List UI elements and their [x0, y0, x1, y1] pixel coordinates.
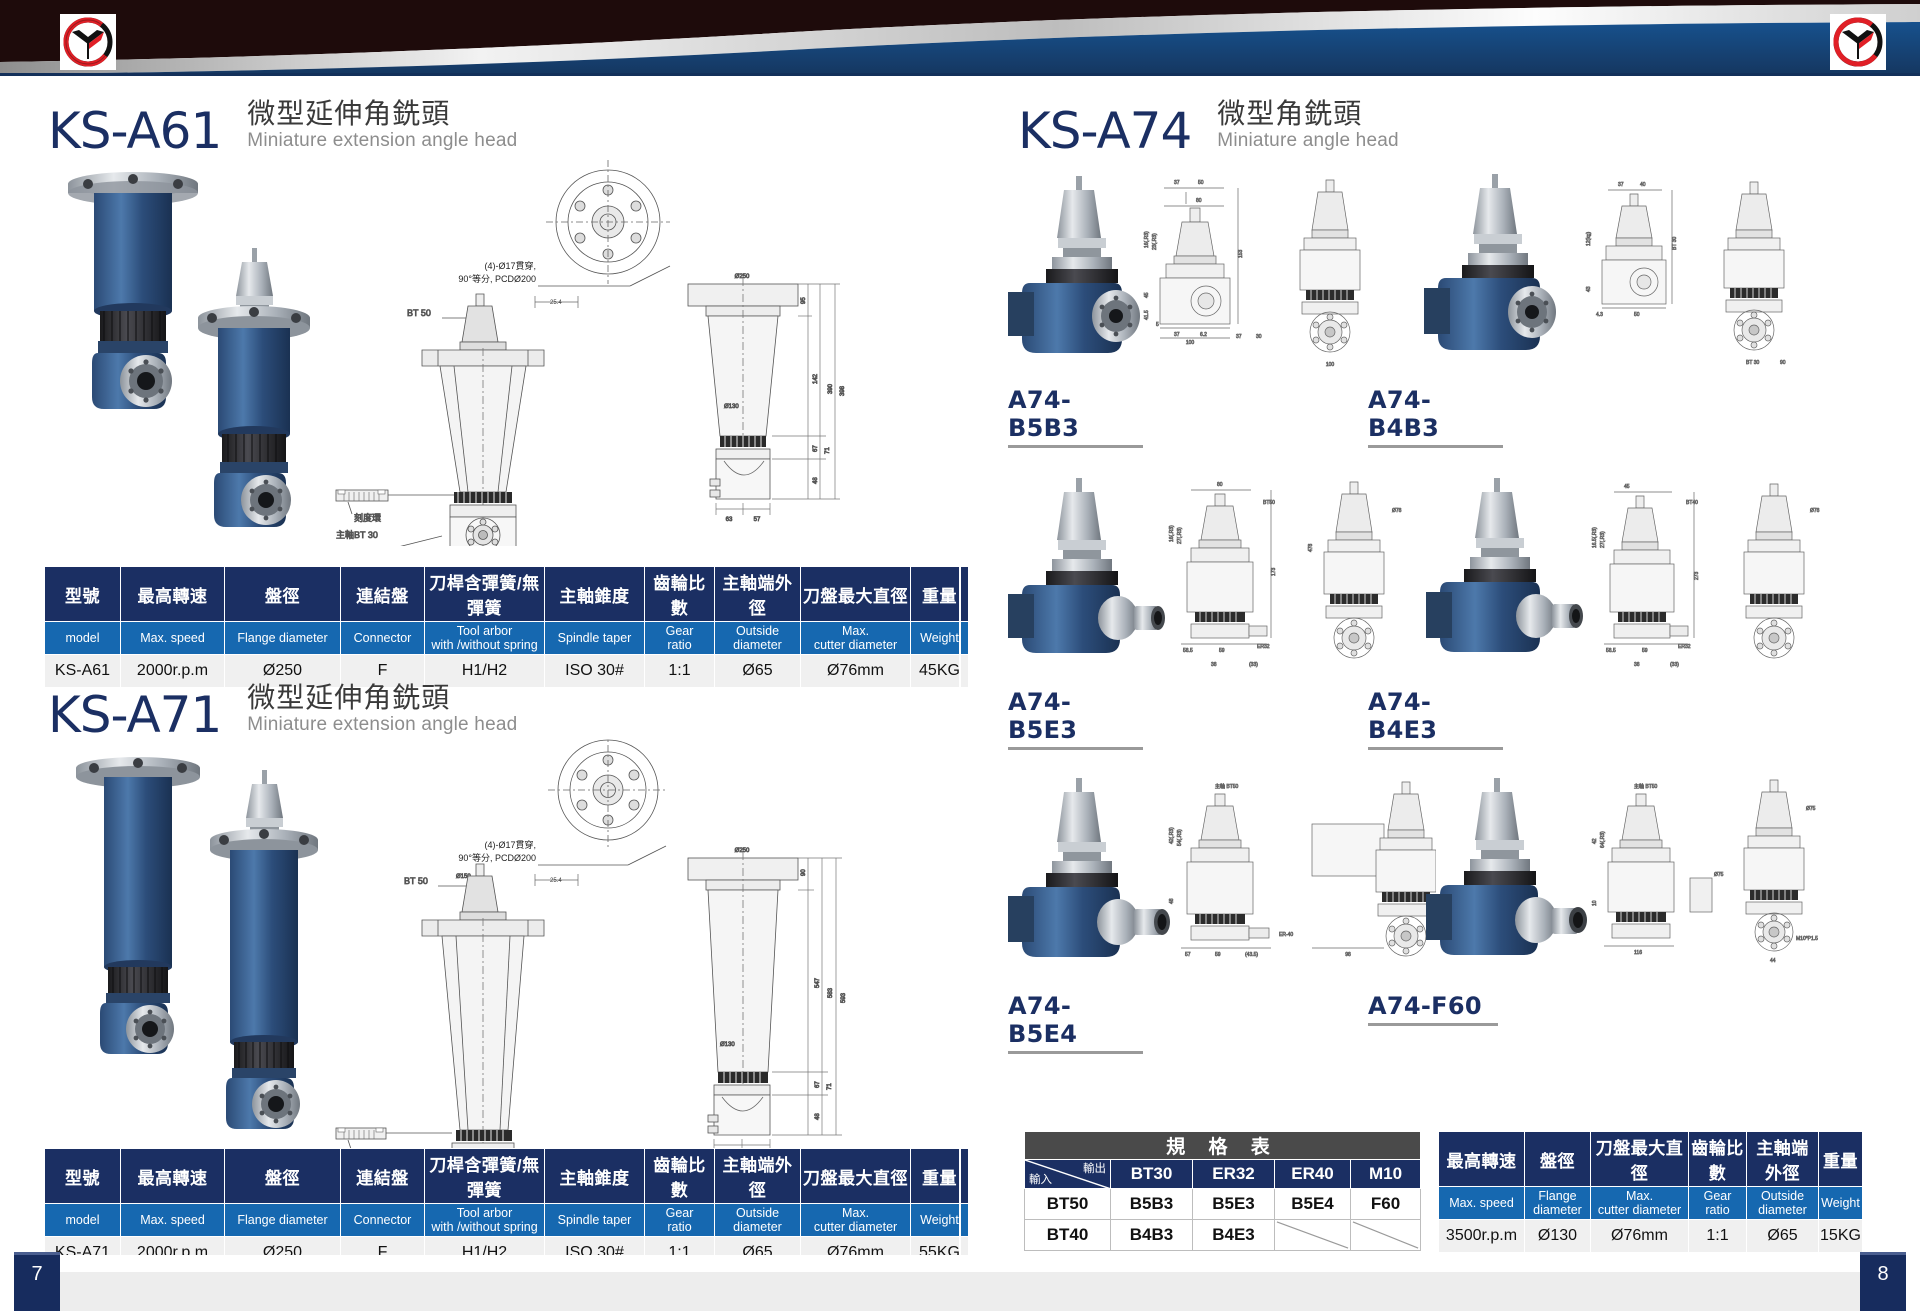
section-header-ks-a61: KS-A61 微型延伸角銑頭 Miniature extension angle…: [48, 98, 517, 155]
svg-text:16(.R3): 16(.R3): [1144, 231, 1150, 248]
th-cn-2: 盤徑: [225, 1149, 341, 1204]
th-cn-3: 連結盤: [341, 567, 425, 622]
combo-cell-1-0: B4B3: [1111, 1220, 1193, 1251]
note-holes-line2: 90°等分, PCDØ200: [458, 273, 536, 284]
td-0: 3500r.p.m: [1439, 1220, 1525, 1253]
spec-header-row-en: Max. speed Flange diameter Max. cutter d…: [1439, 1187, 1863, 1220]
variant-label-a74-b4e3: A74-B4E3: [1368, 688, 1498, 750]
svg-text:(33): (33): [1249, 662, 1258, 668]
variant-label-a74-b5e4: A74-B5E4: [1008, 992, 1138, 1054]
svg-text:16.5(.R3): 16.5(.R3): [1592, 527, 1598, 548]
th-en-4: Tool arbor with /without spring: [425, 1204, 545, 1237]
combo-col-1: ER32: [1193, 1160, 1275, 1189]
svg-text:27(.R3): 27(.R3): [1177, 527, 1183, 544]
spec-value-row: 3500r.p.m Ø130 Ø76mm 1:1 Ø65 15KG: [1439, 1220, 1863, 1253]
svg-text:59: 59: [1219, 648, 1225, 654]
th-cn-7: 主軸端外徑: [715, 567, 801, 622]
svg-text:41.5: 41.5: [1144, 310, 1150, 320]
svg-text:BT 30: BT 30: [1746, 360, 1759, 366]
td-2: Ø76mm: [1591, 1220, 1689, 1253]
svg-text:16(.R3): 16(.R3): [1169, 525, 1175, 542]
combo-cell-0-3: F60: [1351, 1189, 1421, 1220]
th-cn-8: 刀盤最大直徑: [801, 567, 911, 622]
svg-text:ER-40: ER-40: [1279, 932, 1293, 938]
th-en-1: Max. speed: [121, 1204, 225, 1237]
page-banner: [0, 0, 1920, 76]
svg-text:44: 44: [1770, 958, 1776, 964]
svg-text:100: 100: [1326, 362, 1335, 368]
combo-row-input-0: BT50: [1025, 1189, 1111, 1220]
model-code-ks-a61: KS-A61: [48, 108, 221, 156]
svg-text:BT40: BT40: [1686, 500, 1698, 506]
svg-text:80: 80: [1196, 198, 1202, 204]
combo-table-title: 規 格 表: [1025, 1132, 1421, 1160]
svg-text:398: 398: [840, 385, 846, 396]
svg-text:58.5: 58.5: [1606, 648, 1616, 654]
svg-text:(43.5): (43.5): [1245, 952, 1258, 958]
svg-text:67: 67: [813, 445, 819, 452]
th-cn-7: 主軸端外徑: [715, 1149, 801, 1204]
variant-label-a74-b4b3: A74-B4B3: [1368, 386, 1498, 448]
svg-text:142: 142: [813, 373, 819, 384]
svg-text:48: 48: [1169, 898, 1175, 904]
combo-cell-0-1: B5E3: [1193, 1189, 1275, 1220]
combo-cell-0-0: B5B3: [1111, 1189, 1193, 1220]
svg-text:583: 583: [828, 987, 834, 998]
svg-text:Ø130: Ø130: [720, 1042, 735, 1048]
th-en-0: model: [45, 1204, 121, 1237]
section-header-ks-a74: KS-A74 微型角銑頭 Miniature angle head: [1018, 98, 1399, 155]
svg-text:98: 98: [1345, 952, 1351, 958]
title-cn-ks-a61: 微型延伸角銑頭: [247, 98, 517, 129]
svg-text:71: 71: [827, 1083, 833, 1090]
th-cn-0: 最高轉速: [1439, 1132, 1525, 1187]
th-en-4: Outside diameter: [1747, 1187, 1819, 1220]
svg-text:58.5: 58.5: [1183, 648, 1193, 654]
svg-text:63: 63: [726, 517, 733, 523]
title-en-ks-a71: Miniature extension angle head: [247, 713, 517, 737]
td-5: ISO 30#: [545, 655, 645, 688]
th-en-4: Tool arbor with /without spring: [425, 622, 545, 655]
variant-art-a74-b4b3: 3740 12(kg) 43 4.3 50 BT 30: [1358, 168, 1838, 383]
svg-text:BT 50: BT 50: [407, 308, 431, 318]
variant-art-a74-f60: 主軸 BT50 42 64(.R3): [1358, 776, 1838, 991]
svg-text:48: 48: [813, 477, 819, 484]
combo-row-bt50: BT50 B5B3 B5E3 B5E4 F60: [1025, 1189, 1421, 1220]
svg-text:BT50: BT50: [1263, 500, 1275, 506]
th-en-6: Gear ratio: [645, 622, 715, 655]
td-6: 1:1: [645, 655, 715, 688]
title-cn-ks-a74: 微型角銑頭: [1217, 98, 1398, 129]
svg-text:153: 153: [1238, 249, 1244, 258]
svg-text:40: 40: [1640, 182, 1646, 188]
product-illustration-ks-a61: (4)-Ø17貫穿, 90°等分, PCDØ200 25.4 BT 50: [30, 156, 930, 546]
th-cn-1: 最高轉速: [121, 1149, 225, 1204]
svg-text:38: 38: [1634, 662, 1640, 668]
th-en-7: Outside diameter: [715, 622, 801, 655]
combo-corner-cell: 輸入 輸出: [1025, 1160, 1111, 1189]
td-4: Ø65: [1747, 1220, 1819, 1253]
variant-label-a74-f60: A74-F60: [1368, 992, 1493, 1026]
svg-text:12(kg): 12(kg): [1586, 231, 1592, 246]
th-cn-0: 型號: [45, 1149, 121, 1204]
td-7: Ø65: [715, 655, 801, 688]
svg-text:593: 593: [841, 992, 847, 1003]
th-cn-5: 重量: [1819, 1132, 1863, 1187]
svg-text:57: 57: [1185, 952, 1191, 958]
drawing-note-holes-a71: (4)-Ø17貫穿, 90°等分, PCDØ200: [458, 839, 666, 865]
svg-text:Ø75: Ø75: [1714, 872, 1724, 878]
combination-table: 規 格 表 輸入 輸出 BT30 ER32 ER40 M10 BT50 B5B3…: [1024, 1131, 1421, 1251]
spec-header-row-cn: 型號 最高轉速 盤徑 連結盤 刀桿含彈簧/無彈簧 主軸錐度 齒輪比數 主軸端外徑…: [45, 1149, 969, 1204]
product-illustration-ks-a71: (4)-Ø17貫穿, 90°等分, PCDØ200 25.4 BT 50 Ø15…: [30, 738, 930, 1203]
th-en-8: Max. cutter diameter: [801, 622, 911, 655]
svg-text:48: 48: [815, 1113, 821, 1120]
svg-text:27(.R3): 27(.R3): [1600, 531, 1606, 548]
footer-strip: [56, 1272, 1864, 1311]
model-code-ks-a71: KS-A71: [48, 692, 221, 740]
page-gutter: [959, 76, 961, 1255]
svg-text:BT 50: BT 50: [404, 876, 428, 886]
note-holes-line1: (4)-Ø17貫穿,: [484, 260, 536, 271]
svg-text:ER32: ER32: [1678, 644, 1691, 650]
td-3: 1:1: [1689, 1220, 1747, 1253]
td-5: 15KG: [1819, 1220, 1863, 1253]
title-en-ks-a61: Miniature extension angle head: [247, 129, 517, 153]
svg-text:37: 37: [1174, 180, 1180, 186]
th-cn-0: 型號: [45, 567, 121, 622]
svg-text:42: 42: [1592, 838, 1598, 844]
model-code-ks-a74: KS-A74: [1018, 108, 1191, 156]
svg-text:10: 10: [1592, 900, 1598, 906]
combo-col-0: BT30: [1111, 1160, 1193, 1189]
svg-text:478: 478: [1308, 543, 1314, 552]
svg-text:23(.R3): 23(.R3): [1152, 233, 1158, 250]
combo-corner-output: 輸出: [1083, 1160, 1106, 1176]
svg-text:主軸 BT50: 主軸 BT50: [1634, 783, 1658, 790]
svg-text:80: 80: [1217, 482, 1223, 488]
svg-text:Ø130: Ø130: [724, 404, 739, 410]
th-en-3: Connector: [341, 1204, 425, 1237]
company-emblem-icon: [1830, 14, 1886, 70]
page-number-left: 7: [14, 1252, 60, 1311]
svg-text:59: 59: [1215, 952, 1221, 958]
svg-text:59: 59: [1642, 648, 1648, 654]
th-cn-4: 刀桿含彈簧/無彈簧: [425, 567, 545, 622]
variant-label-a74-b5b3: A74-B5B3: [1008, 386, 1138, 448]
th-cn-2: 盤徑: [225, 567, 341, 622]
th-cn-8: 刀盤最大直徑: [801, 1149, 911, 1204]
title-en-ks-a74: Miniature angle head: [1217, 129, 1398, 153]
combo-cell-1-2: [1275, 1220, 1351, 1251]
note-spindle-bt30: 主軸BT 30: [336, 529, 378, 540]
variant-art-a74-b4e3: 45 BT40: [1358, 476, 1838, 686]
th-cn-5: 主軸錐度: [545, 567, 645, 622]
spec-table-ks-a61: 型號 最高轉速 盤徑 連結盤 刀桿含彈簧/無彈簧 主軸錐度 齒輪比數 主軸端外徑…: [44, 566, 969, 688]
combo-row-input-1: BT40: [1025, 1220, 1111, 1251]
svg-text:90: 90: [801, 869, 807, 876]
th-en-5: Spindle taper: [545, 622, 645, 655]
th-en-6: Gear ratio: [645, 1204, 715, 1237]
svg-text:90: 90: [1780, 360, 1786, 366]
svg-text:30: 30: [1256, 334, 1262, 340]
svg-text:173: 173: [1271, 567, 1277, 576]
spec-header-row-en: model Max. speed Flange diameter Connect…: [45, 1204, 969, 1237]
svg-text:M10*P1.5: M10*P1.5: [1796, 936, 1818, 942]
th-cn-1: 盤徑: [1525, 1132, 1591, 1187]
combo-col-3: M10: [1351, 1160, 1421, 1189]
note-holes-line2-a71: 90°等分, PCDØ200: [458, 852, 536, 863]
th-cn-1: 最高轉速: [121, 567, 225, 622]
th-en-3: Connector: [341, 622, 425, 655]
svg-text:37: 37: [1236, 334, 1242, 340]
svg-text:45: 45: [1624, 484, 1630, 490]
th-cn-3: 連結盤: [341, 1149, 425, 1204]
not-available-slash-icon: [1275, 1220, 1350, 1250]
spec-table-ks-a74: 最高轉速 盤徑 刀盤最大直徑 齒輪比數 主軸端外徑 重量 Max. speed …: [1438, 1131, 1863, 1253]
svg-text:547: 547: [815, 977, 821, 988]
th-cn-6: 齒輪比數: [645, 1149, 715, 1204]
svg-text:43: 43: [1586, 286, 1592, 292]
svg-text:25.4: 25.4: [550, 300, 562, 306]
svg-text:50: 50: [1198, 180, 1204, 186]
spec-table-ks-a71: 型號 最高轉速 盤徑 連結盤 刀桿含彈簧/無彈簧 主軸錐度 齒輪比數 主軸端外徑…: [44, 1148, 969, 1270]
svg-text:273: 273: [1694, 571, 1700, 580]
note-holes-line1-a71: (4)-Ø17貫穿,: [484, 839, 536, 850]
th-cn-6: 齒輪比數: [645, 567, 715, 622]
th-en-2: Flange diameter: [225, 622, 341, 655]
th-cn-3: 齒輪比數: [1689, 1132, 1747, 1187]
svg-text:4.3: 4.3: [1596, 312, 1603, 318]
not-available-slash-icon: [1351, 1220, 1420, 1250]
left-page: KS-A61 微型延伸角銑頭 Miniature extension angle…: [0, 76, 960, 1255]
svg-text:Ø78: Ø78: [1810, 508, 1820, 514]
svg-text:100: 100: [1186, 340, 1195, 346]
page-number-right: 8: [1860, 1252, 1906, 1311]
svg-text:95: 95: [801, 297, 807, 304]
combo-col-2: ER40: [1275, 1160, 1351, 1189]
svg-text:Ø250: Ø250: [735, 848, 750, 854]
combo-cell-1-1: B4E3: [1193, 1220, 1275, 1251]
svg-text:Ø75: Ø75: [1806, 806, 1816, 812]
section-header-ks-a71: KS-A71 微型延伸角銑頭 Miniature extension angle…: [48, 682, 517, 739]
company-emblem-icon: [60, 14, 116, 70]
th-en-5: Weight: [1819, 1187, 1863, 1220]
company-logo-left: [60, 14, 116, 70]
svg-text:37: 37: [1174, 332, 1180, 338]
td-8: Ø76mm: [801, 655, 911, 688]
svg-text:38: 38: [1211, 662, 1217, 668]
svg-text:(33): (33): [1670, 662, 1679, 668]
th-en-5: Spindle taper: [545, 1204, 645, 1237]
svg-text:390: 390: [828, 383, 834, 394]
title-cn-ks-a71: 微型延伸角銑頭: [247, 682, 517, 713]
th-cn-4: 主軸端外徑: [1747, 1132, 1819, 1187]
svg-text:Ø250: Ø250: [735, 274, 750, 280]
combo-row-bt40: BT40 B4B3 B4E3: [1025, 1220, 1421, 1251]
svg-text:42(.R3): 42(.R3): [1169, 827, 1175, 844]
svg-text:ER32: ER32: [1257, 644, 1270, 650]
spec-header-row-en: model Max. speed Flange diameter Connect…: [45, 622, 969, 655]
spec-header-row-cn: 最高轉速 盤徑 刀盤最大直徑 齒輪比數 主軸端外徑 重量: [1439, 1132, 1863, 1187]
svg-text:67: 67: [815, 1081, 821, 1088]
svg-text:BT 30: BT 30: [1672, 237, 1678, 250]
combo-cell-0-2: B5E4: [1275, 1189, 1351, 1220]
th-en-7: Outside diameter: [715, 1204, 801, 1237]
spec-header-row-cn: 型號 最高轉速 盤徑 連結盤 刀桿含彈簧/無彈簧 主軸錐度 齒輪比數 主軸端外徑…: [45, 567, 969, 622]
svg-text:45: 45: [1144, 292, 1150, 298]
th-en-3: Gear ratio: [1689, 1187, 1747, 1220]
combo-corner-input: 輸入: [1029, 1171, 1052, 1187]
svg-text:71: 71: [825, 447, 831, 454]
right-page: KS-A74 微型角銑頭 Miniature angle head: [960, 76, 1920, 1255]
th-en-2: Max. cutter diameter: [1591, 1187, 1689, 1220]
catalog-spread: KS-A61 微型延伸角銑頭 Miniature extension angle…: [0, 76, 1920, 1255]
svg-text:57: 57: [754, 517, 761, 523]
th-cn-4: 刀桿含彈簧/無彈簧: [425, 1149, 545, 1204]
variant-label-a74-b5e3: A74-B5E3: [1008, 688, 1138, 750]
company-logo-right: [1830, 14, 1886, 70]
svg-text:5: 5: [1156, 322, 1159, 328]
svg-text:64(.R3): 64(.R3): [1600, 831, 1606, 848]
th-cn-2: 刀盤最大直徑: [1591, 1132, 1689, 1187]
th-en-0: model: [45, 622, 121, 655]
svg-text:54(.R3): 54(.R3): [1177, 829, 1183, 846]
svg-text:116: 116: [1634, 950, 1642, 956]
th-cn-5: 主軸錐度: [545, 1149, 645, 1204]
th-en-2: Flange diameter: [225, 1204, 341, 1237]
svg-text:50: 50: [1634, 312, 1640, 318]
svg-text:主軸 BT50: 主軸 BT50: [1215, 783, 1239, 790]
th-en-8: Max. cutter diameter: [801, 1204, 911, 1237]
note-scale-ring: 刻度環: [354, 512, 381, 523]
th-en-1: Flange diameter: [1525, 1187, 1591, 1220]
svg-text:6.2: 6.2: [1200, 332, 1207, 338]
th-en-1: Max. speed: [121, 622, 225, 655]
td-1: Ø130: [1525, 1220, 1591, 1253]
svg-text:37: 37: [1618, 182, 1624, 188]
combo-cell-1-3: [1351, 1220, 1421, 1251]
th-en-0: Max. speed: [1439, 1187, 1525, 1220]
svg-text:25.4: 25.4: [550, 878, 562, 884]
